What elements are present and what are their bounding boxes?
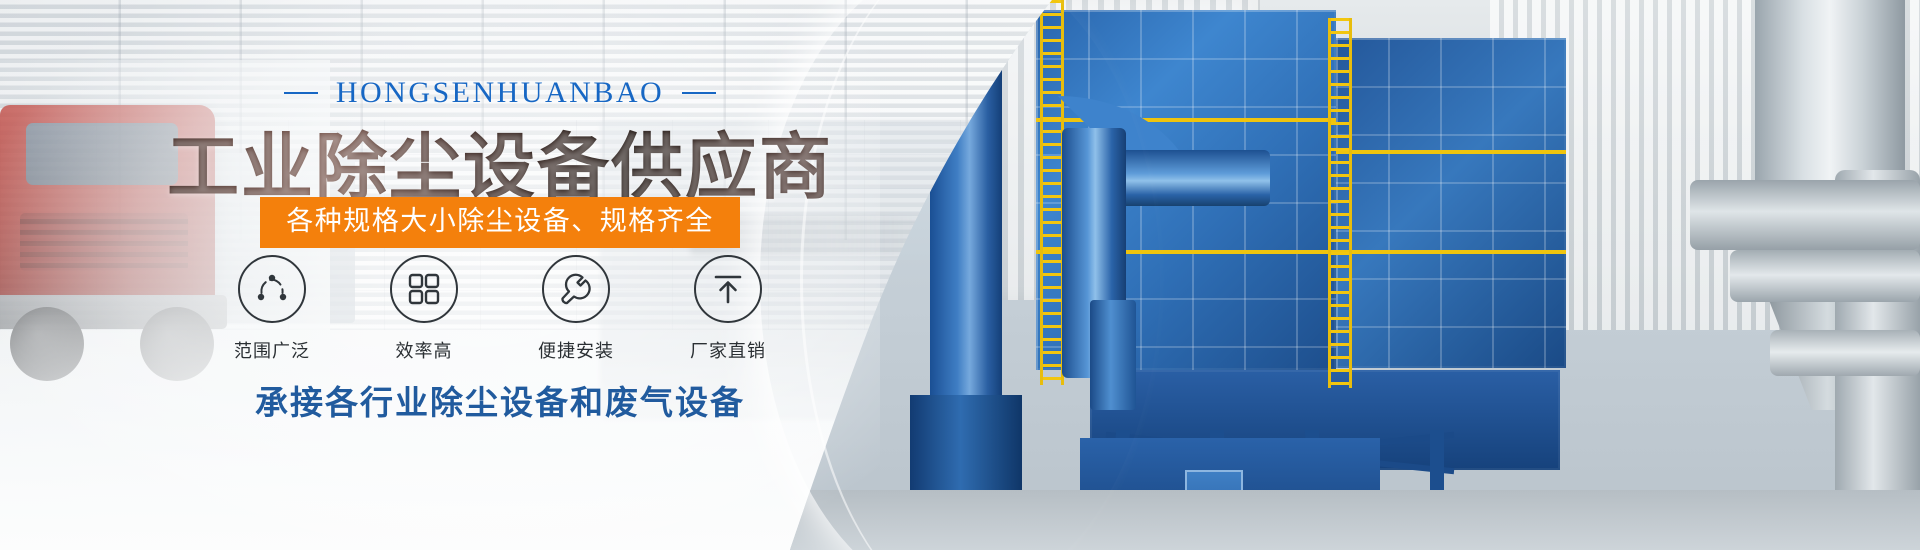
feature-label-0: 范围广泛	[230, 337, 314, 363]
feature-icon-circle-2	[542, 255, 610, 323]
brand-eyebrow: HONGSENHUANBAO	[0, 76, 1000, 110]
subtitle-bar: 各种规格大小除尘设备、规格齐全	[260, 197, 740, 248]
feature-list: 范围广泛 效率高	[0, 255, 1000, 363]
yellow-ladder-2	[1328, 18, 1352, 388]
grid-squares-icon	[407, 272, 441, 306]
dash-right-icon	[682, 92, 716, 94]
arrow-up-bar-icon	[711, 272, 745, 306]
feature-icon-circle-1	[390, 255, 458, 323]
silver-duct-upper	[1690, 180, 1920, 250]
baghouse-b-panel-grid	[1336, 38, 1566, 368]
subbar-wrapper: 各种规格大小除尘设备、规格齐全	[0, 197, 1000, 248]
yellow-handrail-2	[1336, 150, 1566, 154]
wrench-icon	[558, 271, 594, 307]
feature-icon-circle-0	[238, 255, 306, 323]
share-network-icon	[254, 271, 290, 307]
dash-left-icon	[284, 92, 318, 94]
horizontal-duct	[1120, 150, 1270, 206]
feature-label-2: 便捷安装	[534, 337, 618, 363]
banner-content: HONGSENHUANBAO 工业除尘设备供应商 各种规格大小除尘设备、规格齐全…	[0, 0, 1000, 550]
tagline: 承接各行业除尘设备和废气设备	[0, 376, 1000, 424]
feature-item-0[interactable]: 范围广泛	[230, 255, 314, 363]
feature-label-3: 厂家直销	[686, 337, 770, 363]
feature-item-2[interactable]: 便捷安装	[534, 255, 618, 363]
hero-banner: HONGSENHUANBAO 工业除尘设备供应商 各种规格大小除尘设备、规格齐全…	[0, 0, 1920, 550]
feature-item-3[interactable]: 厂家直销	[686, 255, 770, 363]
small-duct	[1090, 300, 1136, 410]
feature-label-1: 效率高	[382, 337, 466, 363]
silver-duct-lower	[1770, 330, 1920, 376]
feature-icon-circle-3	[694, 255, 762, 323]
brand-eyebrow-text: HONGSENHUANBAO	[336, 76, 664, 110]
silver-duct-middle	[1730, 250, 1920, 302]
feature-item-1[interactable]: 效率高	[382, 255, 466, 363]
